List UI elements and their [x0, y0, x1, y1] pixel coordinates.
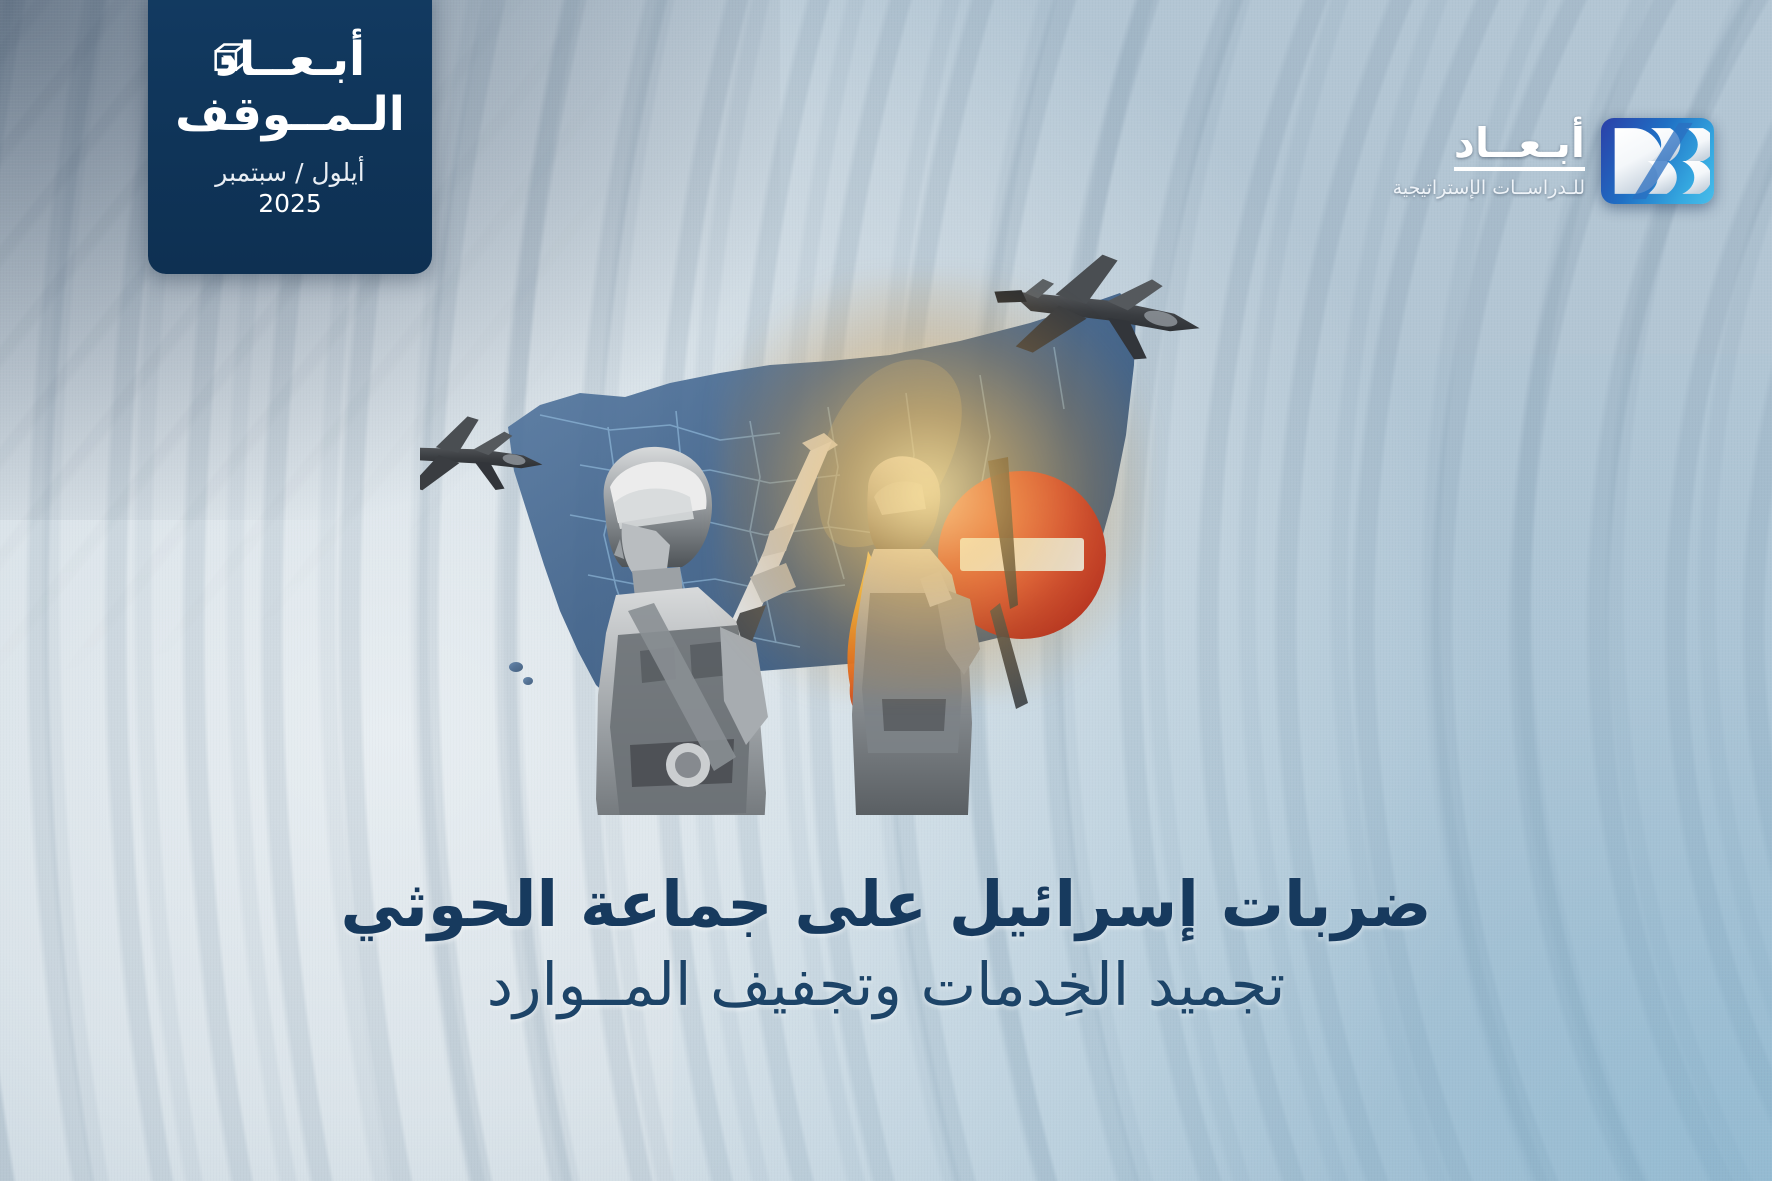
headline-primary: ضربات إسرائيل على جماعة الحوثي: [0, 870, 1772, 941]
badge-title-line2: الـمــوقف: [175, 91, 405, 138]
brand-name: أبـعــاد: [1454, 123, 1585, 171]
brand-text-block: أبـعــاد للـدراســات الإستراتيجية: [1393, 123, 1585, 199]
brand-logo[interactable]: أبـعــاد للـدراســات الإستراتيجية: [1393, 118, 1714, 204]
badge-title-line1: أبـعــاد: [215, 36, 365, 83]
dss-logo-icon: [1601, 118, 1714, 204]
issue-badge: أبـعــاد الـمــوقف أيلول / سبتمبر 2025: [148, 0, 432, 274]
headline-secondary: تجميد الخِدمات وتجفيف المــوارد: [0, 951, 1772, 1019]
headline-block: ضربات إسرائيل على جماعة الحوثي تجميد الخ…: [0, 870, 1772, 1019]
badge-date: أيلول / سبتمبر: [215, 158, 364, 189]
collage-svg: [420, 215, 1290, 815]
poster-canvas: أبـعــاد الـمــوقف أيلول / سبتمبر 2025: [0, 0, 1772, 1181]
brand-subtitle: للـدراســات الإستراتيجية: [1393, 177, 1585, 199]
dss-monogram: [1606, 121, 1710, 201]
badge-year: 2025: [258, 189, 322, 218]
cube-icon: [213, 42, 247, 74]
collage-artwork: [420, 215, 1290, 815]
